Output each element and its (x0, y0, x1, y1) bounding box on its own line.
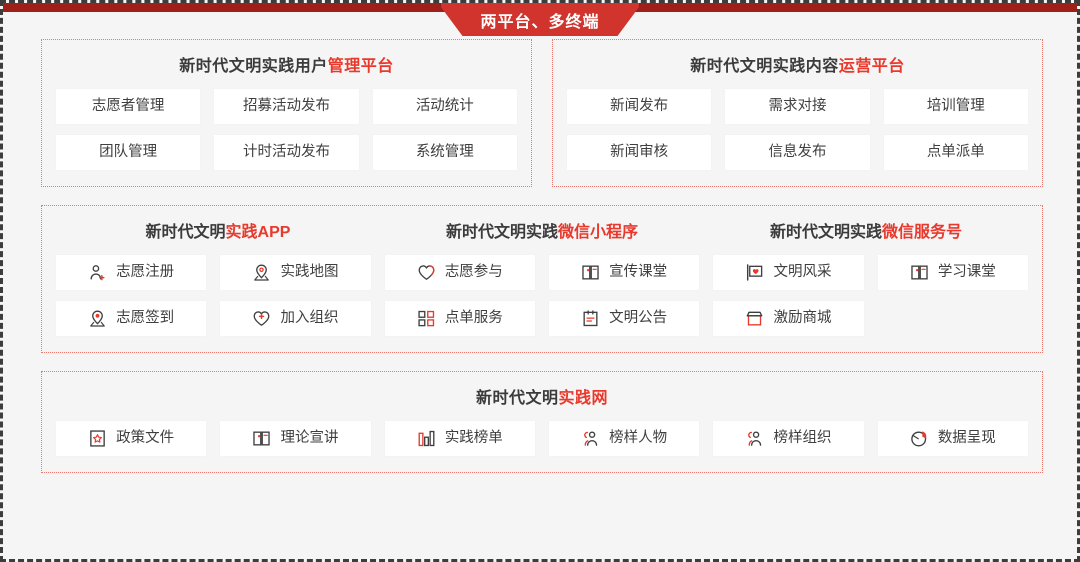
tile-label: 激励商城 (773, 311, 831, 326)
tile-label: 实践榜单 (445, 431, 503, 446)
tile-label: 加入组织 (280, 311, 338, 326)
panel-user-management-platform: 新时代文明实践用户管理平台 志愿者管理 招募活动发布 活动统计 团队管理 计时活… (41, 39, 532, 187)
tile-order-service[interactable]: 点单服务 (385, 301, 535, 336)
panel-content-operation-platform: 新时代文明实践内容运营平台 新闻发布 需求对接 培训管理 新闻审核 信息发布 点… (552, 39, 1043, 187)
tile-label: 宣传课堂 (609, 265, 667, 280)
open-book-icon (252, 429, 271, 448)
people-icon (745, 429, 764, 448)
map-pin-dot-icon (88, 309, 107, 328)
tile-grid-user-management: 志愿者管理 招募活动发布 活动统计 团队管理 计时活动发布 系统管理 (56, 89, 517, 170)
flag-heart-icon (745, 263, 764, 282)
tile-label: 志愿注册 (116, 265, 174, 280)
infographic-frame: 两平台、多终端 新时代文明实践用户管理平台 志愿者管理 招募活动发布 活动统计 … (0, 0, 1080, 562)
tile-promotion-classroom[interactable]: 宣传课堂 (549, 255, 699, 290)
tile-label: 数据呈现 (938, 431, 996, 446)
tile-information-publish[interactable]: 信息发布 (725, 135, 869, 170)
tile-role-model-people[interactable]: 榜样人物 (549, 421, 699, 456)
tile-timed-activity-publish[interactable]: 计时活动发布 (214, 135, 358, 170)
tile-activity-statistics[interactable]: 活动统计 (373, 89, 517, 124)
tile-demand-matching[interactable]: 需求对接 (725, 89, 869, 124)
terminal-group-titles: 新时代文明实践APP 新时代文明实践微信小程序 新时代文明实践微信服务号 (56, 218, 1028, 242)
tile-theory-lecture[interactable]: 理论宣讲 (220, 421, 370, 456)
tile-label: 信息发布 (768, 145, 826, 160)
tile-civilization-announcement[interactable]: 文明公告 (549, 301, 699, 336)
tile-label: 活动统计 (416, 99, 474, 114)
heart-icon (417, 263, 436, 282)
tile-role-model-organization[interactable]: 榜样组织 (713, 421, 863, 456)
tile-civilization-style[interactable]: 文明风采 (713, 255, 863, 290)
tile-placeholder (878, 301, 1028, 336)
person-add-icon (88, 263, 107, 282)
tile-label: 点单服务 (445, 311, 503, 326)
tile-label: 文明公告 (609, 311, 667, 326)
tile-grid-terminals: 志愿注册 实践地图 志愿参与 (56, 255, 1028, 336)
people-icon (581, 429, 600, 448)
bar-chart-icon (417, 429, 436, 448)
tile-label: 培训管理 (927, 99, 985, 114)
banner-container: 两平台、多终端 (3, 3, 1077, 39)
panel-title-practice-website: 新时代文明实践网 (56, 384, 1028, 408)
tile-label: 理论宣讲 (280, 431, 338, 446)
group-title-miniprogram: 新时代文明实践微信小程序 (380, 218, 704, 242)
content-area: 新时代文明实践用户管理平台 志愿者管理 招募活动发布 活动统计 团队管理 计时活… (41, 39, 1043, 541)
tile-volunteer-checkin[interactable]: 志愿签到 (56, 301, 206, 336)
open-book-icon (910, 263, 929, 282)
group-title-accent: 微信小程序 (558, 224, 638, 241)
tile-training-management[interactable]: 培训管理 (884, 89, 1028, 124)
group-title-plain: 新时代文明实践 (446, 224, 558, 241)
tile-practice-map[interactable]: 实践地图 (220, 255, 370, 290)
group-title-plain: 新时代文明 (146, 224, 226, 241)
tile-volunteer-participation[interactable]: 志愿参与 (385, 255, 535, 290)
panel-title-plain: 新时代文明 (476, 390, 559, 407)
tile-news-review[interactable]: 新闻审核 (567, 135, 711, 170)
tile-system-management[interactable]: 系统管理 (373, 135, 517, 170)
panel-title-plain: 新时代文明实践内容 (690, 58, 839, 75)
panel-practice-website: 新时代文明实践网 政策文件 理论宣讲 (41, 371, 1043, 473)
tile-recruitment-activity-publish[interactable]: 招募活动发布 (214, 89, 358, 124)
banner-ribbon: 两平台、多终端 (438, 3, 642, 36)
tile-label: 文明风采 (773, 265, 831, 280)
tile-grid-website: 政策文件 理论宣讲 实践榜单 (56, 421, 1028, 456)
tile-study-classroom[interactable]: 学习课堂 (878, 255, 1028, 290)
tile-label: 政策文件 (116, 431, 174, 446)
panel-terminals: 新时代文明实践APP 新时代文明实践微信小程序 新时代文明实践微信服务号 志愿注… (41, 205, 1043, 353)
panel-title-accent: 实践网 (559, 390, 609, 407)
group-title-accent: 微信服务号 (882, 224, 962, 241)
map-pin-icon (252, 263, 271, 282)
tile-order-dispatch[interactable]: 点单派单 (884, 135, 1028, 170)
heart-plus-icon (252, 309, 271, 328)
tile-policy-documents[interactable]: 政策文件 (56, 421, 206, 456)
tile-label: 志愿参与 (445, 265, 503, 280)
tile-label: 新闻发布 (610, 99, 668, 114)
platforms-row: 新时代文明实践用户管理平台 志愿者管理 招募活动发布 活动统计 团队管理 计时活… (41, 39, 1043, 187)
pie-chart-icon (910, 429, 929, 448)
bar-chart-icon (417, 309, 436, 328)
panel-title-user-management: 新时代文明实践用户管理平台 (56, 52, 517, 76)
tile-label: 招募活动发布 (243, 99, 330, 114)
tile-label: 新闻审核 (610, 145, 668, 160)
tile-data-presentation[interactable]: 数据呈现 (878, 421, 1028, 456)
tile-practice-ranking[interactable]: 实践榜单 (385, 421, 535, 456)
tile-incentive-mall[interactable]: 激励商城 (713, 301, 863, 336)
tile-label: 志愿者管理 (92, 99, 165, 114)
tile-label: 团队管理 (99, 145, 157, 160)
tile-label: 需求对接 (768, 99, 826, 114)
group-title-plain: 新时代文明实践 (770, 224, 882, 241)
tile-label: 学习课堂 (938, 265, 996, 280)
tile-volunteer-management[interactable]: 志愿者管理 (56, 89, 200, 124)
tile-label: 志愿签到 (116, 311, 174, 326)
open-book-icon (581, 263, 600, 282)
panel-title-content-operation: 新时代文明实践内容运营平台 (567, 52, 1028, 76)
clipboard-icon (581, 309, 600, 328)
shop-icon (745, 309, 764, 328)
panel-title-accent: 管理平台 (328, 58, 394, 75)
tile-label: 实践地图 (280, 265, 338, 280)
tile-grid-content-operation: 新闻发布 需求对接 培训管理 新闻审核 信息发布 点单派单 (567, 89, 1028, 170)
tile-label: 点单派单 (927, 145, 985, 160)
panel-title-plain: 新时代文明实践用户 (179, 58, 328, 75)
tile-label: 榜样人物 (609, 431, 667, 446)
group-title-app: 新时代文明实践APP (56, 218, 380, 242)
tile-volunteer-register[interactable]: 志愿注册 (56, 255, 206, 290)
panel-title-accent: 运营平台 (839, 58, 905, 75)
group-title-service-account: 新时代文明实践微信服务号 (704, 218, 1028, 242)
tile-label: 计时活动发布 (243, 145, 330, 160)
group-title-accent: 实践APP (226, 224, 291, 241)
tile-news-publish[interactable]: 新闻发布 (567, 89, 711, 124)
document-star-icon (88, 429, 107, 448)
tile-label: 系统管理 (416, 145, 474, 160)
tile-join-organization[interactable]: 加入组织 (220, 301, 370, 336)
tile-label: 榜样组织 (773, 431, 831, 446)
banner-title: 两平台、多终端 (480, 8, 599, 32)
tile-team-management[interactable]: 团队管理 (56, 135, 200, 170)
